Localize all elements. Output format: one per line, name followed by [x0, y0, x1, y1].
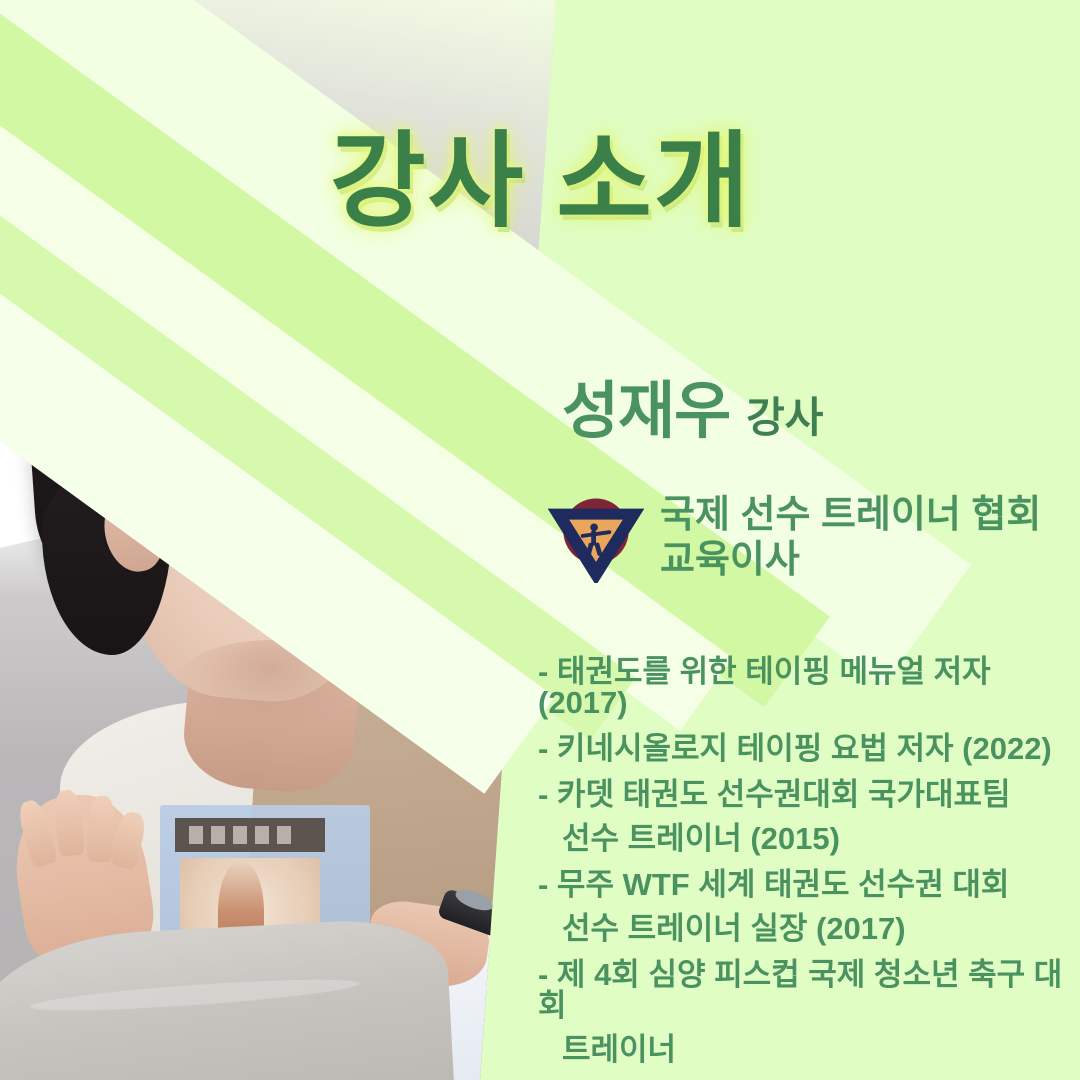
credentials-list: - 태권도를 위한 테이핑 메뉴얼 저자 (2017) - 키네시올로지 테이핑…	[538, 656, 1068, 1080]
credential-line: - 태권도를 위한 테이핑 메뉴얼 저자 (2017)	[538, 656, 1068, 718]
page-title: 강사 소개	[330, 96, 752, 247]
credential-item: - 태권도를 위한 테이핑 메뉴얼 저자 (2017)	[538, 656, 1068, 718]
instructor-name-row: 성재우 강사	[562, 360, 823, 450]
credential-line: - 키네시올로지 테이핑 요법 저자 (2022)	[538, 733, 1068, 764]
poster-caption-band	[175, 818, 325, 852]
instructor-name-suffix: 강사	[746, 384, 823, 445]
cheek-highlight	[225, 430, 365, 580]
finger	[86, 795, 115, 862]
credential-line: - 카뎃 태권도 선수권대회 국가대표팀	[538, 779, 1068, 810]
credential-line-wrap: 선수 트레이너 실장 (2017)	[538, 913, 1068, 944]
instructor-intro-card: 작시 통증고 통증 테이핑 작용	[0, 0, 1080, 1080]
organization-title: 국제 선수 트레이너 협회 교육이사	[660, 487, 1041, 583]
credential-item: - 제 4회 심양 피스컵 국제 청소년 축구 대회 트레이너	[538, 959, 1068, 1065]
credential-line: - 제 4회 심양 피스컵 국제 청소년 축구 대회	[538, 959, 1068, 1021]
athletic-trainer-association-logo-icon	[548, 487, 644, 583]
credential-line-wrap: 선수 트레이너 (2015)	[538, 823, 1068, 854]
chin-shadow	[175, 640, 365, 730]
credential-item: - 카뎃 태권도 선수권대회 국가대표팀 선수 트레이너 (2015)	[538, 779, 1068, 854]
instructor-name: 성재우	[562, 360, 730, 450]
organization-row: 국제 선수 트레이너 협회 교육이사	[548, 487, 1041, 583]
credential-line-wrap: 트레이너	[538, 1034, 1068, 1065]
credential-item: - 무주 WTF 세계 태권도 선수권 대회 선수 트레이너 실장 (2017)	[538, 869, 1068, 944]
credential-item: - 키네시올로지 테이핑 요법 저자 (2022)	[538, 733, 1068, 764]
credential-line: - 무주 WTF 세계 태권도 선수권 대회	[538, 869, 1068, 900]
